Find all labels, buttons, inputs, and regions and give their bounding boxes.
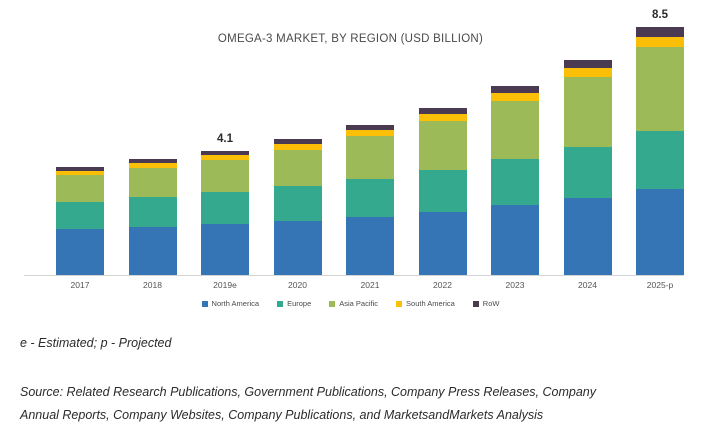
- legend-item-north-america[interactable]: North America: [202, 299, 260, 308]
- bar-group-2025-p[interactable]: 8.5: [636, 27, 684, 275]
- bar-segment-north-america[interactable]: [636, 189, 684, 275]
- x-tick-2021: 2021: [335, 280, 405, 290]
- bar-total-label-2019e: 4.1: [185, 133, 265, 145]
- bar-segment-north-america[interactable]: [346, 217, 394, 275]
- bar-segment-asia-pacific[interactable]: [346, 136, 394, 178]
- plot-area: 4.18.5: [24, 8, 684, 276]
- source-note: Source: Related Research Publications, G…: [20, 381, 690, 427]
- bar-segment-asia-pacific[interactable]: [274, 150, 322, 186]
- x-tick-2019e: 2019e: [190, 280, 260, 290]
- bar-segment-europe[interactable]: [491, 159, 539, 206]
- bar-group-2017[interactable]: [56, 167, 104, 275]
- legend-swatch-icon: [329, 301, 335, 307]
- legend-swatch-icon: [473, 301, 479, 307]
- legend-label: RoW: [483, 299, 500, 308]
- x-tick-2017: 2017: [45, 280, 115, 290]
- bar-segment-north-america[interactable]: [56, 229, 104, 275]
- source-line-2: Annual Reports, Company Websites, Compan…: [20, 404, 690, 427]
- footnote-estimated-projected: e - Estimated; p - Projected: [20, 336, 171, 350]
- bar-segment-south-america[interactable]: [419, 114, 467, 121]
- x-tick-2020: 2020: [263, 280, 333, 290]
- bar-group-2022[interactable]: [419, 108, 467, 275]
- x-tick-2022: 2022: [408, 280, 478, 290]
- legend-label: Asia Pacific: [339, 299, 378, 308]
- legend-label: North America: [212, 299, 260, 308]
- legend-label: South America: [406, 299, 455, 308]
- bar-stack: [419, 108, 467, 275]
- bar-segment-europe[interactable]: [129, 197, 177, 227]
- bar-group-2018[interactable]: [129, 159, 177, 275]
- bar-group-2024[interactable]: [564, 60, 612, 275]
- bar-segment-north-america[interactable]: [129, 227, 177, 275]
- bar-stack: [129, 159, 177, 275]
- bar-segment-south-america[interactable]: [564, 68, 612, 77]
- bar-segment-north-america[interactable]: [419, 212, 467, 275]
- bar-segment-asia-pacific[interactable]: [201, 160, 249, 192]
- bar-segment-row[interactable]: [491, 86, 539, 93]
- bar-segment-south-america[interactable]: [636, 37, 684, 48]
- bar-stack: [274, 139, 322, 275]
- x-tick-2018: 2018: [118, 280, 188, 290]
- legend-swatch-icon: [202, 301, 208, 307]
- omega3-market-stacked-bar-chart: OMEGA-3 MARKET, BY REGION (USD BILLION) …: [0, 0, 701, 439]
- bar-segment-europe[interactable]: [201, 192, 249, 224]
- bar-stack: [346, 125, 394, 275]
- x-axis-line: [24, 275, 684, 276]
- x-tick-2025-p: 2025-p: [625, 280, 695, 290]
- chart-legend: North AmericaEuropeAsia PacificSouth Ame…: [0, 299, 701, 308]
- bar-segment-asia-pacific[interactable]: [636, 47, 684, 131]
- bar-segment-asia-pacific[interactable]: [129, 168, 177, 198]
- bar-segment-row[interactable]: [564, 60, 612, 68]
- legend-item-europe[interactable]: Europe: [277, 299, 311, 308]
- bar-stack: [636, 27, 684, 275]
- bar-segment-north-america[interactable]: [564, 198, 612, 275]
- x-tick-2023: 2023: [480, 280, 550, 290]
- bar-stack: [564, 60, 612, 275]
- bar-total-label-2025-p: 8.5: [620, 9, 700, 21]
- legend-item-south-america[interactable]: South America: [396, 299, 455, 308]
- bar-segment-asia-pacific[interactable]: [491, 101, 539, 159]
- legend-item-row[interactable]: RoW: [473, 299, 500, 308]
- source-line-1: Source: Related Research Publications, G…: [20, 381, 690, 404]
- bar-segment-row[interactable]: [636, 27, 684, 36]
- bar-segment-asia-pacific[interactable]: [419, 121, 467, 170]
- bar-segment-europe[interactable]: [56, 202, 104, 229]
- bar-group-2023[interactable]: [491, 86, 539, 275]
- bar-group-2020[interactable]: [274, 139, 322, 275]
- x-tick-2024: 2024: [553, 280, 623, 290]
- bar-segment-europe[interactable]: [346, 179, 394, 217]
- x-axis-tick-labels: 201720182019e202020212022202320242025-p: [24, 280, 684, 294]
- bar-segment-europe[interactable]: [419, 170, 467, 212]
- bar-segment-europe[interactable]: [636, 131, 684, 189]
- bar-segment-europe[interactable]: [274, 186, 322, 221]
- legend-item-asia-pacific[interactable]: Asia Pacific: [329, 299, 378, 308]
- legend-swatch-icon: [396, 301, 402, 307]
- bar-segment-south-america[interactable]: [491, 93, 539, 101]
- bar-segment-north-america[interactable]: [201, 224, 249, 275]
- bar-segment-europe[interactable]: [564, 147, 612, 199]
- legend-label: Europe: [287, 299, 311, 308]
- bar-stack: [201, 151, 249, 275]
- bar-group-2019e[interactable]: 4.1: [201, 151, 249, 275]
- legend-swatch-icon: [277, 301, 283, 307]
- bar-stack: [491, 86, 539, 275]
- bar-stack: [56, 167, 104, 275]
- bar-segment-north-america[interactable]: [491, 205, 539, 275]
- bar-segment-asia-pacific[interactable]: [56, 175, 104, 202]
- bar-segment-asia-pacific[interactable]: [564, 77, 612, 146]
- bar-segment-north-america[interactable]: [274, 221, 322, 275]
- bar-group-2021[interactable]: [346, 125, 394, 275]
